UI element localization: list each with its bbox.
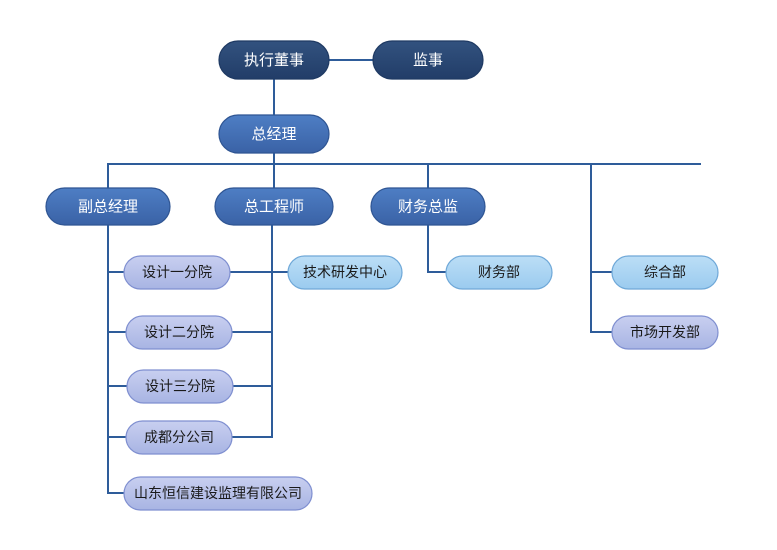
node-shape-shandong_co (124, 477, 312, 510)
node-shape-chengdu_branch (126, 421, 232, 454)
node-shape-rd_center (288, 256, 402, 289)
node-deputy_gm[interactable]: 副总经理 (46, 188, 170, 225)
node-design_inst_2[interactable]: 设计二分院 (126, 316, 232, 349)
node-gm[interactable]: 总经理 (219, 115, 329, 153)
connector-cfo-to-finance (428, 225, 446, 272)
org-chart-canvas: 执行董事监事总经理副总经理总工程师财务总监设计一分院设计二分院设计三分院成都分公… (0, 0, 777, 550)
nodes-layer: 执行董事监事总经理副总经理总工程师财务总监设计一分院设计二分院设计三分院成都分公… (46, 41, 718, 510)
org-chart-svg: 执行董事监事总经理副总经理总工程师财务总监设计一分院设计二分院设计三分院成都分公… (0, 0, 777, 550)
node-shape-market_dev (612, 316, 718, 349)
connector-right-trunk (591, 164, 700, 332)
node-rd_center[interactable]: 技术研发中心 (288, 256, 402, 289)
node-shandong_co[interactable]: 山东恒信建设监理有限公司 (124, 477, 312, 510)
node-market_dev[interactable]: 市场开发部 (612, 316, 718, 349)
node-shape-general_dept (612, 256, 718, 289)
node-shape-design_inst_1 (124, 256, 230, 289)
node-exec_director[interactable]: 执行董事 (219, 41, 329, 79)
node-shape-chief_engineer (215, 188, 333, 225)
node-shape-cfo (371, 188, 485, 225)
node-shape-design_inst_3 (127, 370, 233, 403)
node-supervisor[interactable]: 监事 (373, 41, 483, 79)
node-design_inst_1[interactable]: 设计一分院 (124, 256, 230, 289)
node-shape-supervisor (373, 41, 483, 79)
node-chengdu_branch[interactable]: 成都分公司 (126, 421, 232, 454)
node-finance_dept[interactable]: 财务部 (446, 256, 552, 289)
node-shape-finance_dept (446, 256, 552, 289)
node-chief_engineer[interactable]: 总工程师 (215, 188, 333, 225)
node-cfo[interactable]: 财务总监 (371, 188, 485, 225)
node-design_inst_3[interactable]: 设计三分院 (127, 370, 233, 403)
node-shape-design_inst_2 (126, 316, 232, 349)
node-shape-deputy_gm (46, 188, 170, 225)
node-shape-gm (219, 115, 329, 153)
node-shape-exec_director (219, 41, 329, 79)
node-general_dept[interactable]: 综合部 (612, 256, 718, 289)
